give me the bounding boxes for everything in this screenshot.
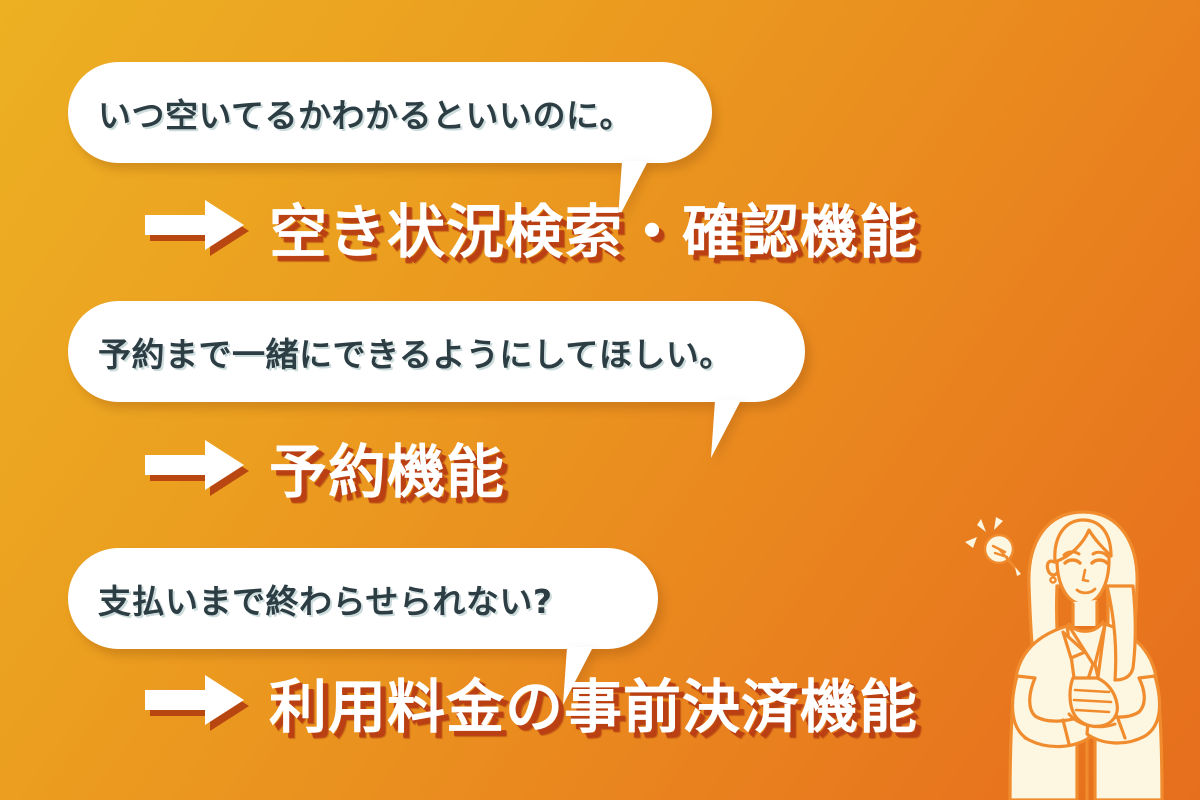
bubble-body: 支払いまで終わらせられない? bbox=[68, 548, 658, 649]
right-arrow-icon bbox=[145, 438, 245, 496]
bubble-body: いつ空いてるかわかるといいのに。 bbox=[68, 62, 712, 163]
lightbulb-icon bbox=[955, 508, 1035, 588]
right-arrow-icon bbox=[145, 198, 245, 256]
feature-row-availability: 空き状況検索・確認機能 bbox=[145, 185, 918, 269]
feature-title: 空き状況検索・確認機能 bbox=[269, 185, 918, 269]
bubble-quote-text: 予約まで一緒にできるようにしてほしい。 bbox=[98, 328, 733, 376]
feature-row-reservation: 予約機能 bbox=[145, 425, 505, 509]
right-arrow-icon bbox=[145, 673, 245, 731]
feature-title: 利用料金の事前決済機能 bbox=[269, 660, 918, 744]
feature-row-payment: 利用料金の事前決済機能 bbox=[145, 660, 918, 744]
bubble-quote-text: いつ空いてるかわかるといいのに。 bbox=[98, 89, 633, 137]
speech-bubble-reservation: 予約まで一緒にできるようにしてほしい。 bbox=[68, 301, 805, 402]
speech-bubble-availability: いつ空いてるかわかるといいのに。 bbox=[68, 62, 712, 163]
slide-canvas: いつ空いてるかわかるといいのに。 空き状況検索・確認機能 予約まで一緒にできるよ… bbox=[0, 0, 1200, 800]
feature-title: 予約機能 bbox=[269, 425, 505, 509]
bubble-quote-text: 支払いまで終わらせられない? bbox=[98, 575, 552, 623]
bubble-body: 予約まで一緒にできるようにしてほしい。 bbox=[68, 301, 805, 402]
speech-bubble-payment: 支払いまで終わらせられない? bbox=[68, 548, 658, 649]
